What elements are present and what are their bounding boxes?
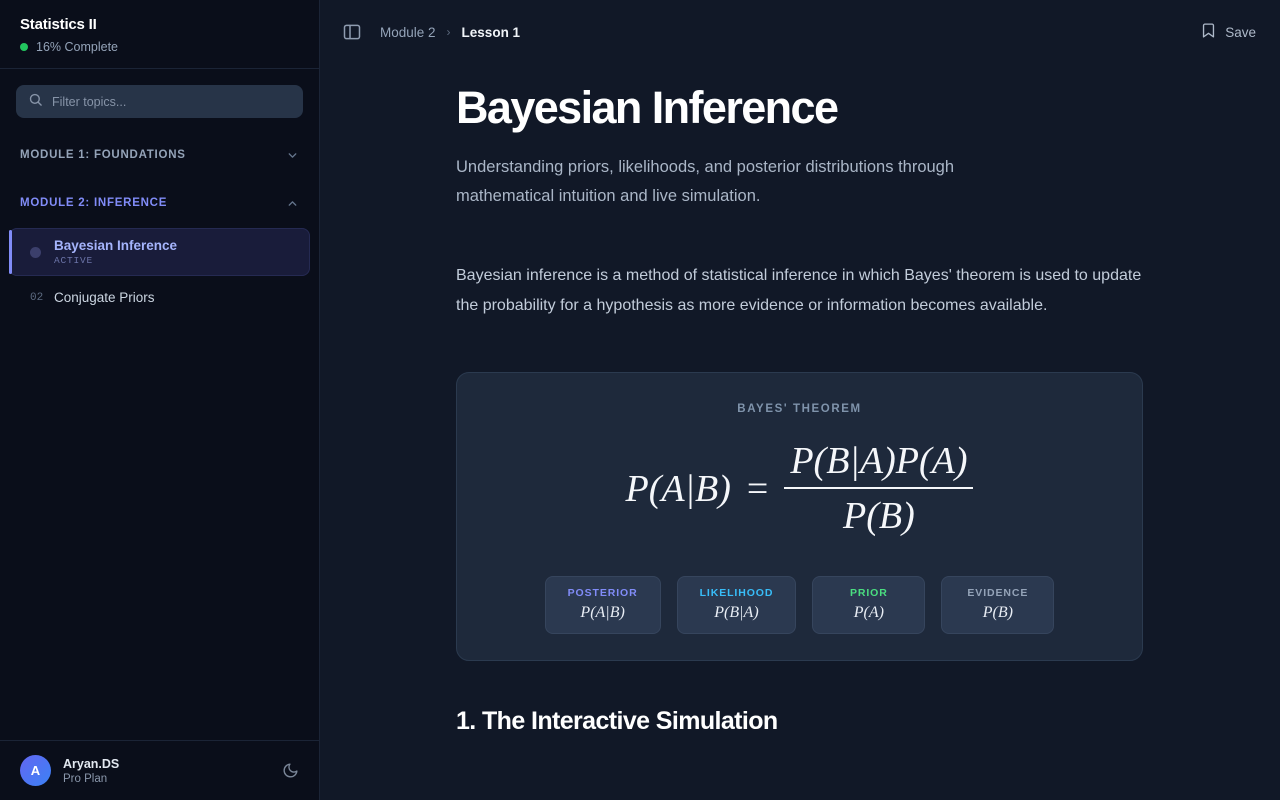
formula-lhs: P(A|B): [626, 467, 731, 511]
lesson-text: Bayesian Inference ACTIVE: [54, 238, 177, 266]
sidebar-module-foundations[interactable]: MODULE 1: FOUNDATIONS: [0, 138, 319, 172]
app-root: Statistics II 16% Complete MODULE 1: FOU…: [0, 0, 1280, 800]
save-button[interactable]: Save: [1200, 22, 1256, 42]
module-label: MODULE 2: INFERENCE: [20, 197, 167, 209]
term-chip-prior[interactable]: PRIOR P(A): [812, 576, 925, 634]
sidebar: Statistics II 16% Complete MODULE 1: FOU…: [0, 0, 320, 800]
chevron-down-icon[interactable]: [286, 149, 299, 162]
progress-dot-icon: [20, 43, 28, 51]
lesson-text: Conjugate Priors: [54, 290, 155, 305]
chip-expression: P(A|B): [568, 604, 638, 622]
save-label: Save: [1225, 25, 1256, 40]
term-chip-evidence[interactable]: EVIDENCE P(B): [941, 576, 1054, 634]
user-info[interactable]: Aryan.DS Pro Plan: [63, 757, 270, 785]
term-chip-likelihood[interactable]: LIKELIHOOD P(B|A): [677, 576, 797, 634]
moon-icon[interactable]: [282, 762, 299, 779]
user-plan: Pro Plan: [63, 773, 270, 785]
bayes-theorem-card: BAYES' THEOREM P(A|B) = P(B|A)P(A) P(B) …: [456, 372, 1143, 661]
breadcrumb: Module 2 › Lesson 1: [380, 25, 520, 40]
sidebar-nav: MODULE 1: FOUNDATIONS MODULE 2: INFERENC…: [0, 128, 319, 740]
page-title: Bayesian Inference: [456, 84, 1280, 131]
main-content: Module 2 › Lesson 1 Save Bayesian Infere…: [320, 0, 1280, 800]
bookmark-icon: [1200, 22, 1217, 42]
sidebar-header: Statistics II 16% Complete: [0, 0, 319, 69]
course-title: Statistics II: [20, 16, 299, 33]
lesson-number: 02: [30, 292, 41, 304]
bayes-formula: P(A|B) = P(B|A)P(A) P(B): [457, 439, 1142, 538]
chevron-up-icon[interactable]: [286, 197, 299, 210]
sidebar-footer: A Aryan.DS Pro Plan: [0, 740, 319, 800]
sidebar-lesson-bayesian-inference[interactable]: Bayesian Inference ACTIVE: [9, 228, 310, 276]
term-chip-list: POSTERIOR P(A|B) LIKELIHOOD P(B|A) PRIOR…: [457, 576, 1142, 634]
search-box[interactable]: [16, 85, 303, 118]
lesson-title: Bayesian Inference: [54, 238, 177, 253]
panel-toggle-icon[interactable]: [342, 22, 362, 42]
chip-expression: P(B): [964, 604, 1031, 622]
sidebar-lesson-conjugate-priors[interactable]: 02 Conjugate Priors: [9, 280, 310, 315]
topbar: Module 2 › Lesson 1 Save: [320, 0, 1280, 64]
lesson-paragraph: Bayesian inference is a method of statis…: [456, 261, 1146, 321]
chip-expression: P(A): [835, 604, 902, 622]
formula-equals: =: [747, 467, 768, 511]
lesson-title: Conjugate Priors: [54, 290, 155, 305]
lesson-status-badge: ACTIVE: [54, 255, 177, 266]
search-icon: [28, 92, 43, 112]
term-chip-posterior[interactable]: POSTERIOR P(A|B): [545, 576, 661, 634]
lesson-content: Bayesian Inference Understanding priors,…: [320, 64, 1280, 736]
card-label: BAYES' THEOREM: [457, 403, 1142, 415]
breadcrumb-separator-icon: ›: [447, 25, 451, 39]
course-progress: 16% Complete: [20, 40, 299, 54]
module-label: MODULE 1: FOUNDATIONS: [20, 149, 186, 161]
lesson-list: Bayesian Inference ACTIVE 02 Conjugate P…: [0, 228, 319, 315]
chip-expression: P(B|A): [700, 604, 774, 622]
formula-denominator: P(B): [837, 489, 921, 538]
page-subtitle: Understanding priors, likelihoods, and p…: [456, 153, 1056, 211]
breadcrumb-parent[interactable]: Module 2: [380, 25, 436, 40]
sidebar-search-area: [0, 69, 319, 128]
chip-label: EVIDENCE: [964, 587, 1031, 599]
lesson-status-dot-icon: [30, 247, 41, 258]
section-heading-simulation: 1. The Interactive Simulation: [456, 707, 1280, 736]
progress-label: 16% Complete: [36, 40, 118, 54]
breadcrumb-current: Lesson 1: [462, 25, 521, 40]
chip-label: POSTERIOR: [568, 587, 638, 599]
sidebar-module-inference[interactable]: MODULE 2: INFERENCE: [0, 186, 319, 220]
formula-fraction: P(B|A)P(A) P(B): [784, 439, 973, 538]
search-input[interactable]: [52, 95, 291, 109]
formula-numerator: P(B|A)P(A): [784, 439, 973, 487]
user-name: Aryan.DS: [63, 757, 270, 771]
chip-label: PRIOR: [835, 587, 902, 599]
avatar[interactable]: A: [20, 755, 51, 786]
chip-label: LIKELIHOOD: [700, 587, 774, 599]
